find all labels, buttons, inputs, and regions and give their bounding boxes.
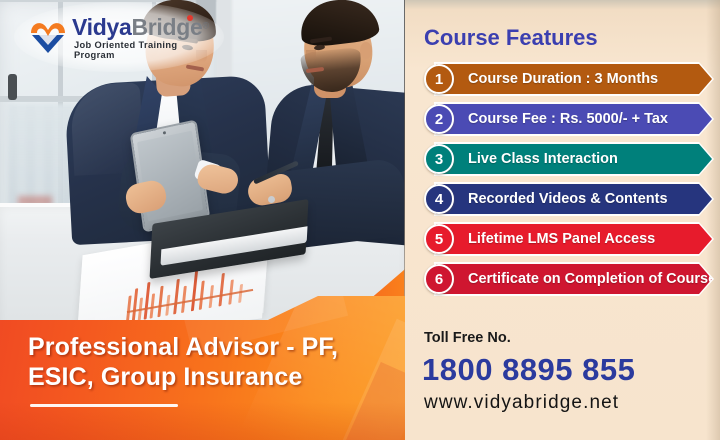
course-feature-row[interactable]: Course Fee : Rs. 5000/- + Tax2 bbox=[424, 104, 704, 134]
vidyabridge-bridge-logo-icon bbox=[28, 16, 68, 56]
logo-wordmark: VidyaBridge® bbox=[72, 14, 209, 41]
course-feature-row[interactable]: Certificate on Completion of Course6 bbox=[424, 264, 704, 294]
window-handle bbox=[8, 74, 17, 100]
course-feature-label: Course Fee : Rs. 5000/- + Tax bbox=[468, 111, 668, 127]
course-feature-number-badge: 6 bbox=[424, 264, 454, 294]
course-feature-label: Lifetime LMS Panel Access bbox=[468, 231, 655, 247]
course-feature-label: Certificate on Completion of Course bbox=[468, 271, 716, 287]
toll-free-number[interactable]: 1800 8895 855 bbox=[422, 352, 635, 388]
course-feature-number-badge: 3 bbox=[424, 144, 454, 174]
course-feature-bar: Certificate on Completion of Course bbox=[436, 264, 712, 294]
course-feature-number-badge: 2 bbox=[424, 104, 454, 134]
course-feature-label: Recorded Videos & Contents bbox=[468, 191, 668, 207]
logo-word-vidya: Vidya bbox=[72, 14, 131, 40]
person-right-nose bbox=[306, 50, 316, 63]
course-feature-row[interactable]: Live Class Interaction3 bbox=[424, 144, 704, 174]
course-feature-row[interactable]: Recorded Videos & Contents4 bbox=[424, 184, 704, 214]
tablet-camera bbox=[162, 131, 165, 135]
course-features-heading: Course Features bbox=[424, 25, 598, 51]
logo[interactable]: VidyaBridge® Job Oriented Training Progr… bbox=[28, 14, 202, 58]
course-feature-number-badge: 5 bbox=[424, 224, 454, 254]
course-title: Professional Advisor - PF, ESIC, Group I… bbox=[28, 332, 378, 392]
course-feature-row[interactable]: Course Duration : 3 Months1 bbox=[424, 64, 704, 94]
course-features-list: Course Duration : 3 Months1Course Fee : … bbox=[424, 64, 704, 304]
title-underline bbox=[30, 404, 178, 407]
course-feature-row[interactable]: Lifetime LMS Panel Access5 bbox=[424, 224, 704, 254]
person-right-ear bbox=[360, 42, 372, 59]
toll-free-label: Toll Free No. bbox=[424, 330, 511, 346]
course-feature-label: Live Class Interaction bbox=[468, 151, 618, 167]
registered-trademark-icon: ® bbox=[203, 21, 210, 31]
course-feature-number-badge: 1 bbox=[424, 64, 454, 94]
logo-i-dot bbox=[187, 15, 193, 21]
course-feature-number-badge: 4 bbox=[424, 184, 454, 214]
course-feature-bar: Lifetime LMS Panel Access bbox=[436, 224, 712, 254]
course-feature-bar: Live Class Interaction bbox=[436, 144, 712, 174]
course-title-line1: Professional Advisor - PF, bbox=[28, 332, 378, 362]
logo-tagline: Job Oriented Training Program bbox=[74, 40, 202, 60]
course-feature-bar: Recorded Videos & Contents bbox=[436, 184, 712, 214]
banner-shade bbox=[0, 402, 406, 440]
course-feature-label: Course Duration : 3 Months bbox=[468, 71, 658, 87]
course-title-line2: ESIC, Group Insurance bbox=[28, 362, 378, 392]
course-promo-banner: Professional Advisor - PF, ESIC, Group I… bbox=[0, 0, 720, 440]
person-right-ring bbox=[268, 196, 275, 203]
course-feature-bar: Course Duration : 3 Months bbox=[436, 64, 712, 94]
course-feature-bar: Course Fee : Rs. 5000/- + Tax bbox=[436, 104, 712, 134]
website-url[interactable]: www.vidyabridge.net bbox=[424, 392, 619, 414]
